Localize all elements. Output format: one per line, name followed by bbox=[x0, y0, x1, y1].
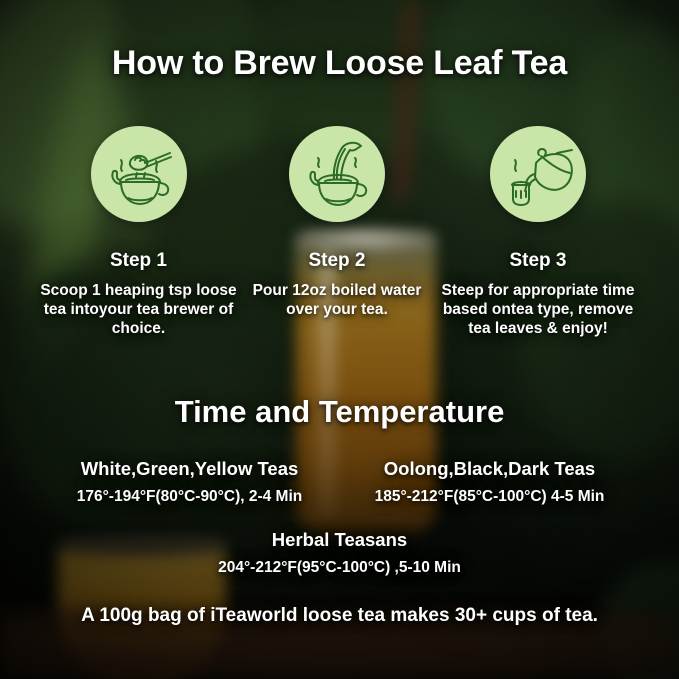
footer-note: A 100g bag of iTeaworld loose tea makes … bbox=[0, 604, 679, 628]
step-title: Step 3 bbox=[433, 250, 643, 272]
tea-type-name: Herbal Teasans bbox=[190, 529, 490, 551]
section-title-time-and-temperature: Time and Temperature bbox=[0, 393, 679, 431]
step-title: Step 2 bbox=[242, 250, 432, 272]
step-description: Scoop 1 heaping tsp loose tea intoyour t… bbox=[36, 281, 241, 338]
tea-type-entry: Herbal Teasans 204°-212°F(95°C-100°C) ,5… bbox=[190, 529, 490, 577]
tea-type-entry: Oolong,Black,Dark Teas 185°-212°F(85°C-1… bbox=[340, 458, 640, 506]
poster-content: How to Brew Loose Leaf Tea bbox=[0, 0, 679, 679]
teapot-pouring-water-in-icon bbox=[300, 139, 374, 209]
step-title: Step 1 bbox=[36, 250, 241, 272]
step-description: Pour 12oz boiled water over your tea. bbox=[242, 281, 432, 319]
step-item: Step 1 Scoop 1 heaping tsp loose tea int… bbox=[36, 126, 241, 338]
step-2-badge bbox=[289, 126, 385, 222]
time-temperature-row: White,Green,Yellow Teas 176°-194°F(80°C-… bbox=[0, 458, 679, 506]
teapot-with-scoop-icon bbox=[102, 141, 176, 207]
step-3-badge bbox=[490, 126, 586, 222]
tea-type-value: 185°-212°F(85°C-100°C) 4-5 Min bbox=[340, 487, 640, 506]
page-title: How to Brew Loose Leaf Tea bbox=[0, 43, 679, 83]
tea-type-entry: White,Green,Yellow Teas 176°-194°F(80°C-… bbox=[40, 458, 340, 506]
tea-type-value: 204°-212°F(95°C-100°C) ,5-10 Min bbox=[190, 558, 490, 577]
tea-type-name: White,Green,Yellow Teas bbox=[40, 458, 340, 480]
steps-row: Step 1 Scoop 1 heaping tsp loose tea int… bbox=[0, 126, 679, 338]
step-description: Steep for appropriate time based ontea t… bbox=[433, 281, 643, 338]
step-item: Step 3 Steep for appropriate time based … bbox=[433, 126, 643, 338]
teapot-pouring-into-cup-icon bbox=[500, 141, 576, 207]
tea-type-name: Oolong,Black,Dark Teas bbox=[340, 458, 640, 480]
tea-type-value: 176°-194°F(80°C-90°C), 2-4 Min bbox=[40, 487, 340, 506]
step-1-badge bbox=[91, 126, 187, 222]
step-item: Step 2 Pour 12oz boiled water over your … bbox=[242, 126, 432, 338]
time-temperature-row: Herbal Teasans 204°-212°F(95°C-100°C) ,5… bbox=[0, 529, 679, 577]
infographic-poster: How to Brew Loose Leaf Tea bbox=[0, 0, 679, 679]
